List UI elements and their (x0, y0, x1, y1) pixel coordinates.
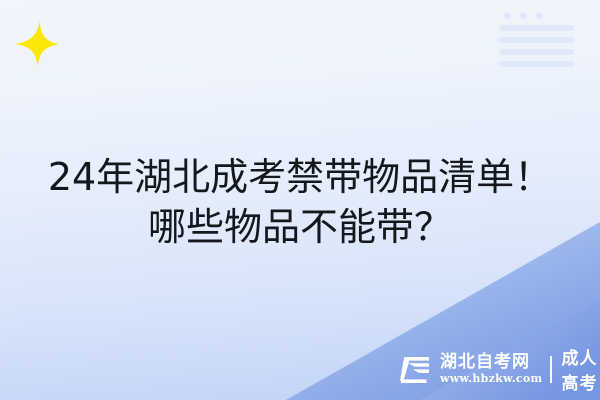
logo-site-name: 湖北自考网 (440, 354, 542, 371)
logo-text-block: 湖北自考网 www.hbzkw.com (440, 354, 542, 384)
logo-divider (550, 356, 551, 383)
document-bar (499, 25, 574, 31)
document-dot (504, 12, 511, 19)
hbzkw-logo-mark-icon (399, 354, 433, 384)
banner-headline: 24年湖北成考禁带物品清单！ 哪些物品不能带？ (0, 152, 600, 252)
document-lines-icon (499, 12, 579, 70)
document-dots (504, 12, 579, 19)
document-dot (520, 12, 527, 19)
headline-line-1: 24年湖北成考禁带物品清单！ (0, 152, 600, 202)
document-dot (536, 12, 543, 19)
sparkle-star-icon (14, 20, 60, 68)
document-bar (499, 37, 574, 43)
headline-line-2: 哪些物品不能带？ (0, 202, 600, 252)
document-bar (499, 61, 574, 67)
logo-tagline: 成人高考 (562, 344, 600, 394)
exam-announcement-banner: 24年湖北成考禁带物品清单！ 哪些物品不能带？ 湖北自考网 www.hbzkw.… (0, 0, 600, 400)
logo-site-url: www.hbzkw.com (440, 373, 542, 384)
document-bar (499, 49, 574, 55)
site-logo[interactable]: 湖北自考网 www.hbzkw.com 成人高考 (399, 351, 600, 387)
